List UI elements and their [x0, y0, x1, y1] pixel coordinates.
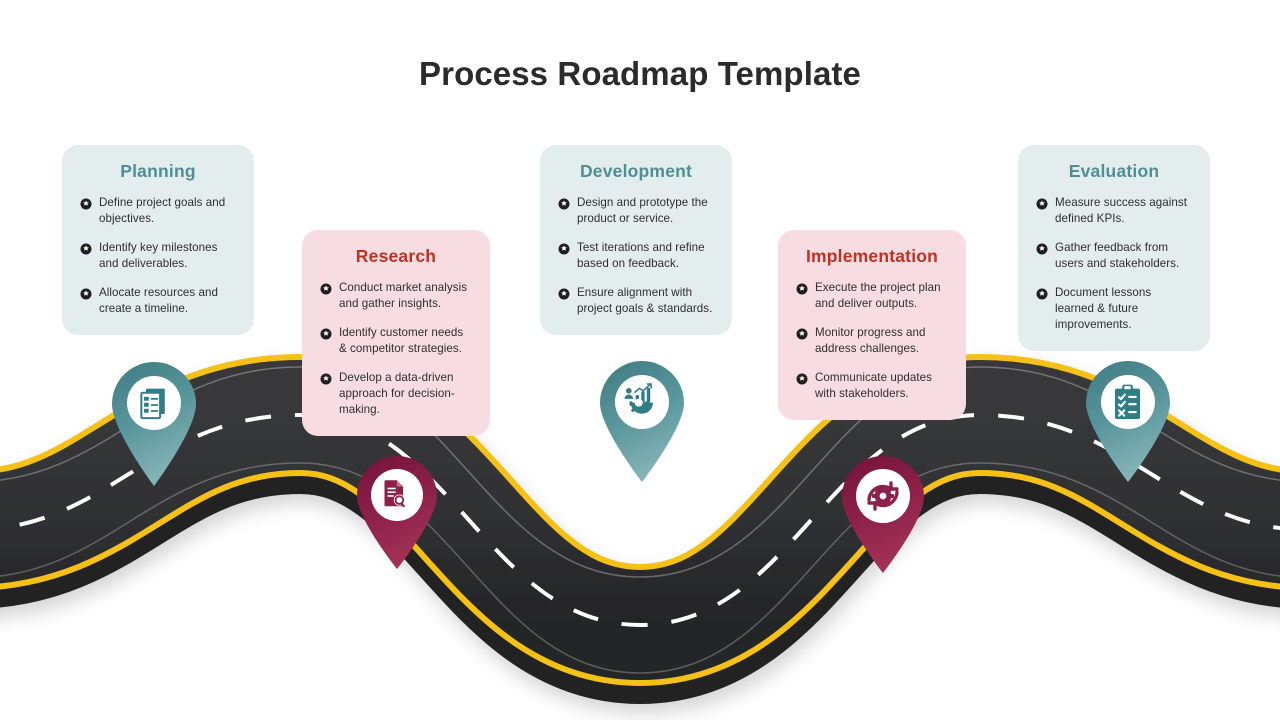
star-bullet-icon	[80, 242, 92, 254]
map-pin-evaluation[interactable]	[1082, 358, 1174, 484]
star-bullet-icon	[1036, 197, 1048, 209]
list-item: Identify customer needs & competitor str…	[320, 325, 472, 357]
star-bullet-icon	[80, 197, 92, 209]
star-bullet-icon	[558, 242, 570, 254]
stage-title: Planning	[80, 161, 236, 182]
stage-bullet-list: Define project goals and objectives. Ide…	[80, 195, 236, 317]
star-bullet-icon	[80, 287, 92, 299]
list-item: Define project goals and objectives.	[80, 195, 236, 227]
list-item: Allocate resources and create a timeline…	[80, 285, 236, 317]
stage-title: Research	[320, 246, 472, 267]
list-item: Ensure alignment with project goals & st…	[558, 285, 714, 317]
stage-title: Evaluation	[1036, 161, 1192, 182]
list-item: Document lessons learned & future improv…	[1036, 285, 1192, 333]
star-bullet-icon	[1036, 287, 1048, 299]
bullet-text: Design and prototype the product or serv…	[577, 195, 714, 227]
bullet-text: Identify customer needs & competitor str…	[339, 325, 472, 357]
list-item: Identify key milestones and deliverables…	[80, 240, 236, 272]
bullet-text: Monitor progress and address challenges.	[815, 325, 948, 357]
star-bullet-icon	[320, 282, 332, 294]
list-item: Communicate updates with stakeholders.	[796, 370, 948, 402]
map-pin-research[interactable]	[352, 455, 442, 571]
bullet-text: Develop a data-driven approach for decis…	[339, 370, 472, 418]
star-bullet-icon	[320, 327, 332, 339]
stage-card-evaluation[interactable]: Evaluation Measure success against defin…	[1018, 145, 1210, 351]
star-bullet-icon	[558, 197, 570, 209]
list-item: Develop a data-driven approach for decis…	[320, 370, 472, 418]
bullet-text: Identify key milestones and deliverables…	[99, 240, 236, 272]
bullet-text: Conduct market analysis and gather insig…	[339, 280, 472, 312]
star-bullet-icon	[558, 287, 570, 299]
stage-title: Implementation	[796, 246, 948, 267]
map-pin-implementation[interactable]	[838, 455, 928, 575]
bullet-text: Gather feedback from users and stakehold…	[1055, 240, 1192, 272]
map-pin-planning[interactable]	[108, 358, 200, 488]
stage-card-implementation[interactable]: Implementation Execute the project plan …	[778, 230, 966, 420]
star-bullet-icon	[796, 282, 808, 294]
stage-bullet-list: Execute the project plan and deliver out…	[796, 280, 948, 402]
bullet-text: Communicate updates with stakeholders.	[815, 370, 948, 402]
bullet-text: Measure success against defined KPIs.	[1055, 195, 1192, 227]
star-bullet-icon	[796, 327, 808, 339]
stage-bullet-list: Conduct market analysis and gather insig…	[320, 280, 472, 418]
list-item: Test iterations and refine based on feed…	[558, 240, 714, 272]
bullet-text: Test iterations and refine based on feed…	[577, 240, 714, 272]
stage-card-development[interactable]: Development Design and prototype the pro…	[540, 145, 732, 335]
roadmap-slide: Process Roadmap Template	[0, 0, 1280, 720]
list-item: Design and prototype the product or serv…	[558, 195, 714, 227]
checklist-document-icon	[141, 389, 164, 418]
stage-title: Development	[558, 161, 714, 182]
bullet-text: Execute the project plan and deliver out…	[815, 280, 948, 312]
stage-bullet-list: Design and prototype the product or serv…	[558, 195, 714, 317]
bullet-text: Ensure alignment with project goals & st…	[577, 285, 714, 317]
map-pin-development[interactable]	[596, 358, 688, 484]
bullet-text: Allocate resources and create a timeline…	[99, 285, 236, 317]
stage-card-planning[interactable]: Planning Define project goals and object…	[62, 145, 254, 335]
clipboard-check-icon	[1115, 385, 1140, 419]
star-bullet-icon	[320, 372, 332, 384]
list-item: Measure success against defined KPIs.	[1036, 195, 1192, 227]
list-item: Monitor progress and address challenges.	[796, 325, 948, 357]
list-item: Execute the project plan and deliver out…	[796, 280, 948, 312]
stage-bullet-list: Measure success against defined KPIs. Ga…	[1036, 195, 1192, 333]
star-bullet-icon	[796, 372, 808, 384]
list-item: Gather feedback from users and stakehold…	[1036, 240, 1192, 272]
bullet-text: Document lessons learned & future improv…	[1055, 285, 1192, 333]
stage-card-research[interactable]: Research Conduct market analysis and gat…	[302, 230, 490, 436]
bullet-text: Define project goals and objectives.	[99, 195, 236, 227]
star-bullet-icon	[1036, 242, 1048, 254]
list-item: Conduct market analysis and gather insig…	[320, 280, 472, 312]
